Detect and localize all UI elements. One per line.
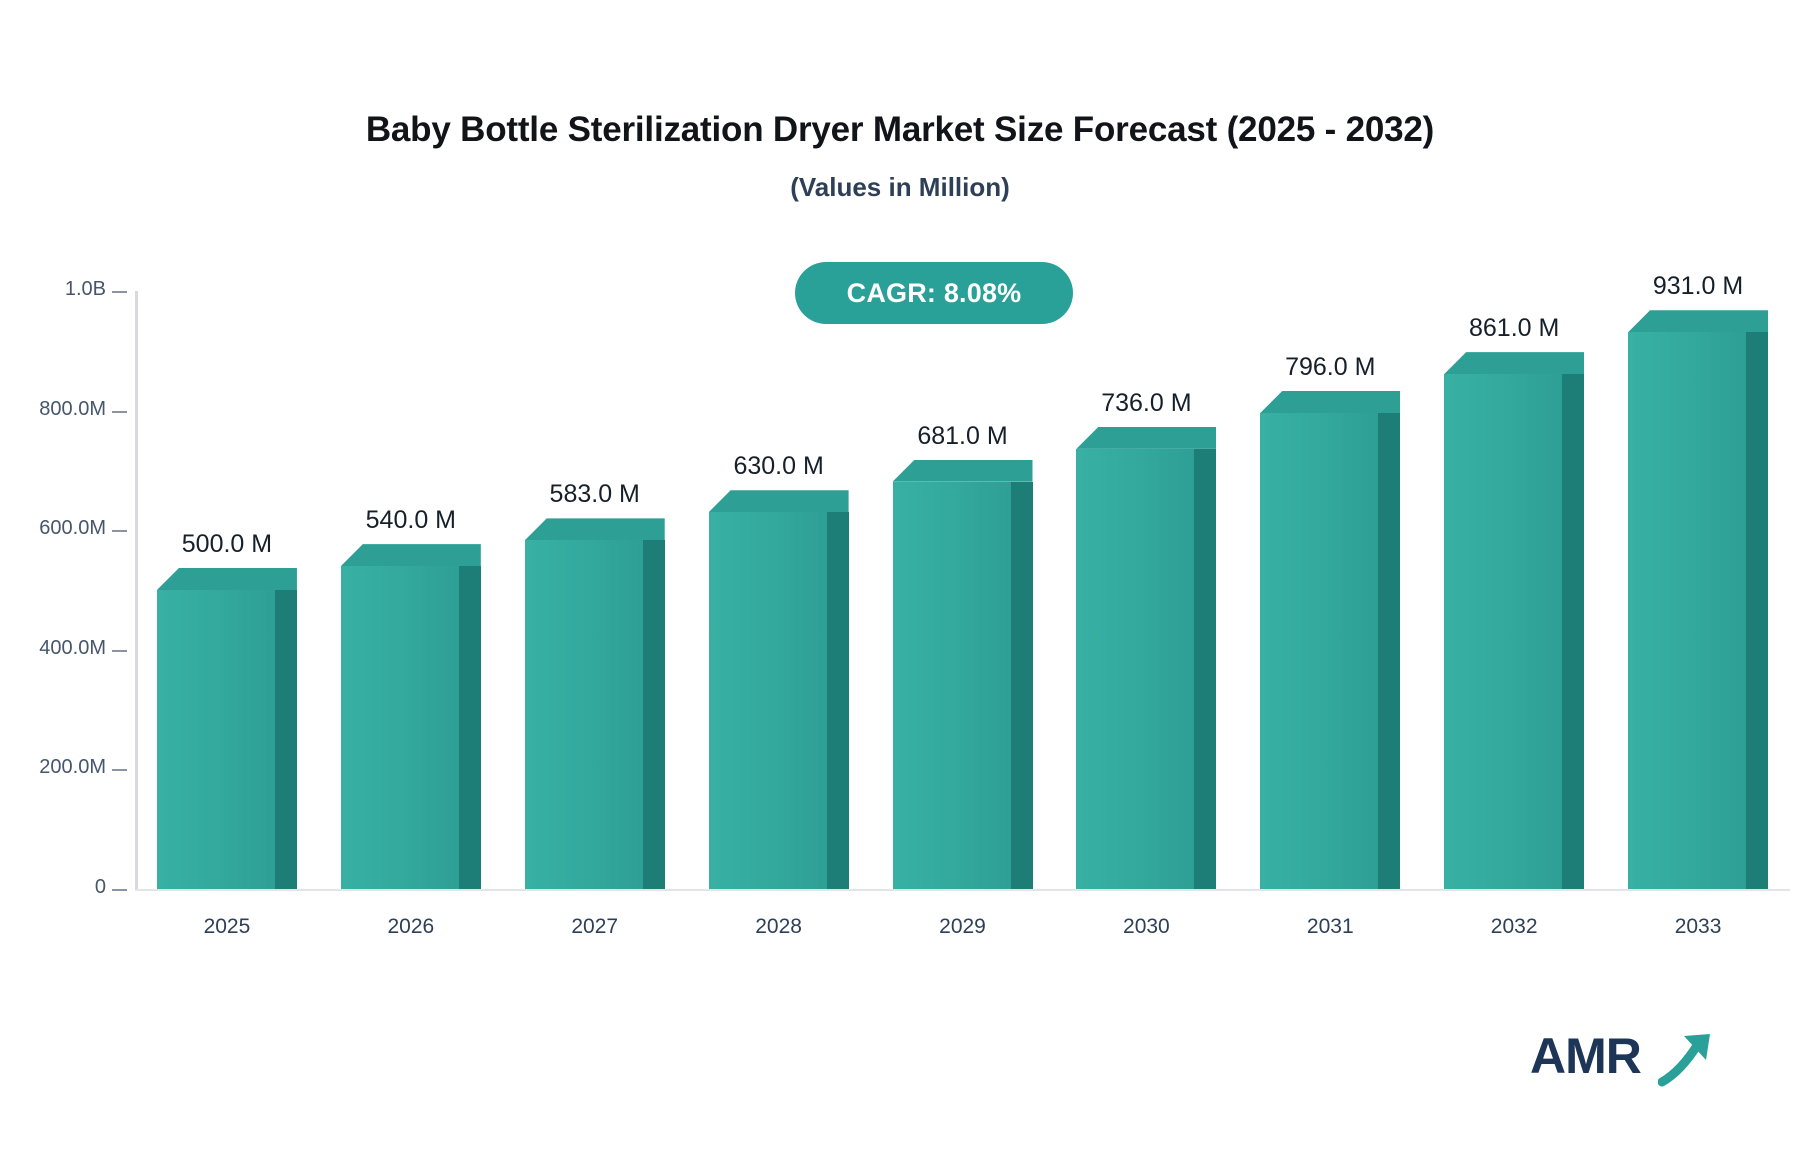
y-axis-tick-label: 400.0M <box>0 637 106 660</box>
bar-front-face <box>1444 374 1562 889</box>
bar-side-face <box>827 512 849 889</box>
y-axis-tick <box>112 889 127 891</box>
bar-value-label: 796.0 M <box>1240 353 1420 382</box>
arrow-up-right-icon <box>1658 1030 1720 1088</box>
bar-side-face <box>1378 413 1400 889</box>
bar-front-face <box>1260 413 1378 889</box>
y-axis-tick <box>112 291 127 293</box>
bar-side-face <box>275 590 297 889</box>
bar-front-face <box>157 590 275 889</box>
bar-top-face <box>1628 310 1768 332</box>
bar-side-face <box>459 566 481 889</box>
bar-top-face <box>1444 352 1584 374</box>
bar-top-face <box>709 490 849 512</box>
bar-front-face <box>525 540 643 889</box>
bar-value-label: 630.0 M <box>689 452 869 481</box>
bar-top-face <box>525 518 665 540</box>
chart-canvas: Baby Bottle Sterilization Dryer Market S… <box>0 0 1800 1156</box>
x-axis-tick-label: 2030 <box>1076 915 1216 939</box>
bar-value-label: 861.0 M <box>1424 314 1604 343</box>
logo-text: AMR <box>1530 1028 1641 1084</box>
x-axis-tick-label: 2028 <box>709 915 849 939</box>
bar-front-face <box>1628 332 1746 889</box>
bar-2030 <box>1076 427 1216 889</box>
y-axis-tick-label: 800.0M <box>0 398 106 421</box>
y-axis-tick-label: 600.0M <box>0 517 106 540</box>
y-axis-tick <box>112 650 127 652</box>
bar-value-label: 931.0 M <box>1608 272 1788 301</box>
y-axis-tick-label: 0 <box>0 876 106 899</box>
x-axis-tick-label: 2032 <box>1444 915 1584 939</box>
bar-top-face <box>1260 391 1400 413</box>
y-axis-tick <box>112 769 127 771</box>
bar-front-face <box>341 566 459 889</box>
y-axis-tick-label: 1.0B <box>0 278 106 301</box>
y-axis-tick-label: 200.0M <box>0 756 106 779</box>
bar-2031 <box>1260 391 1400 889</box>
bar-side-face <box>1011 482 1033 889</box>
bar-2027 <box>525 518 665 889</box>
x-axis-tick-label: 2025 <box>157 915 297 939</box>
bar-side-face <box>1746 332 1768 889</box>
bar-2028 <box>709 490 849 889</box>
plot-area: 0200.0M400.0M600.0M800.0M1.0B 2025202620… <box>0 0 1800 1156</box>
bar-value-label: 540.0 M <box>321 506 501 535</box>
bar-side-face <box>643 540 665 889</box>
bar-2025 <box>157 568 297 889</box>
bar-top-face <box>1076 427 1216 449</box>
bar-value-label: 681.0 M <box>873 422 1053 451</box>
y-axis-tick <box>112 530 127 532</box>
bar-value-label: 500.0 M <box>137 530 317 559</box>
bar-side-face <box>1562 374 1584 889</box>
bar-2032 <box>1444 352 1584 889</box>
bar-2026 <box>341 544 481 889</box>
x-axis-tick-label: 2026 <box>341 915 481 939</box>
bar-value-label: 583.0 M <box>505 480 685 509</box>
bar-side-face <box>1194 449 1216 889</box>
bar-top-face <box>893 460 1033 482</box>
x-axis-tick-label: 2031 <box>1260 915 1400 939</box>
amr-logo: AMR <box>1530 1028 1720 1090</box>
bar-front-face <box>709 512 827 889</box>
bar-front-face <box>893 482 1011 889</box>
bar-front-face <box>1076 449 1194 889</box>
bar-top-face <box>157 568 297 590</box>
y-axis-tick <box>112 411 127 413</box>
bar-series <box>135 291 1790 889</box>
x-axis-tick-label: 2029 <box>893 915 1033 939</box>
bar-2033 <box>1628 310 1768 889</box>
x-axis-tick-label: 2027 <box>525 915 665 939</box>
bar-top-face <box>341 544 481 566</box>
bar-value-label: 736.0 M <box>1056 389 1236 418</box>
x-axis-tick-label: 2033 <box>1628 915 1768 939</box>
bar-2029 <box>893 460 1033 889</box>
x-axis-line <box>135 889 1790 891</box>
